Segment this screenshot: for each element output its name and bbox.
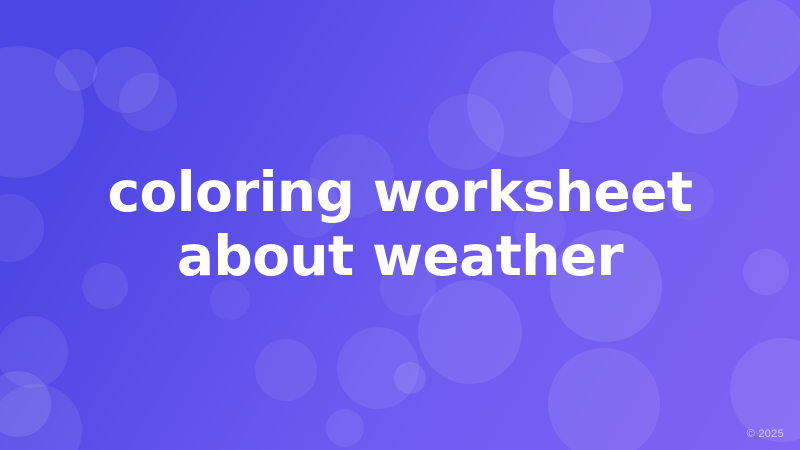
copyright-footer: © 2025 (747, 429, 784, 440)
headline-container: coloring worksheet about weather (0, 0, 800, 450)
page-title: coloring worksheet about weather (90, 161, 710, 289)
title-card: coloring worksheet about weather © 2025 (0, 0, 800, 450)
